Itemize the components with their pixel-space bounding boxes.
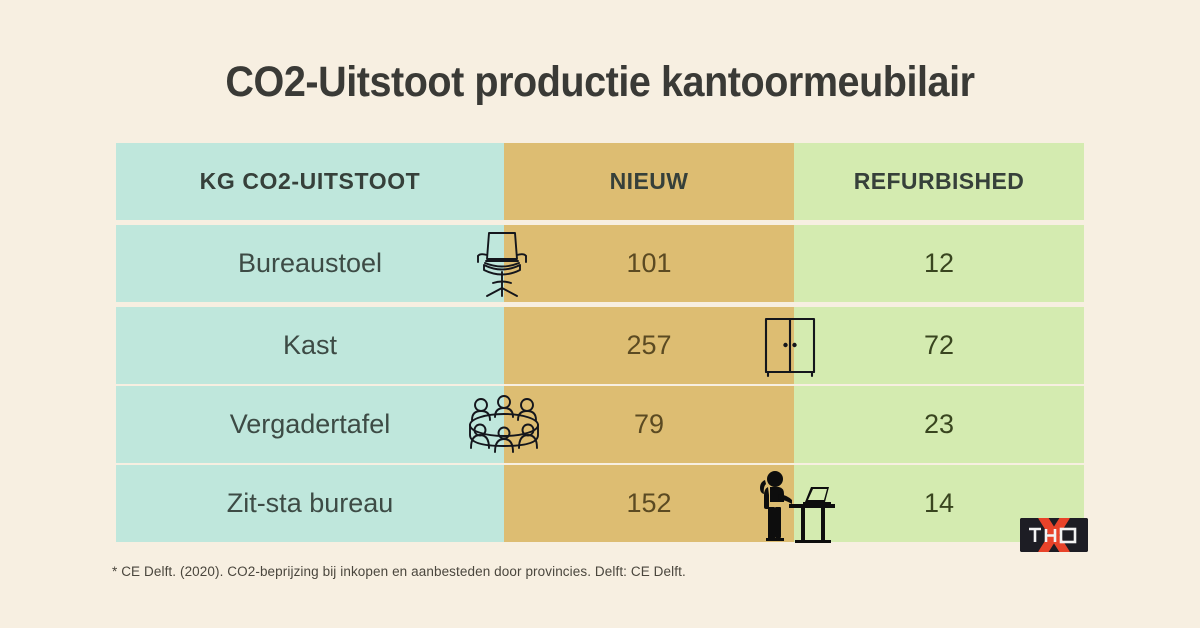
table-row: Vergadertafel 79 23 xyxy=(116,386,1084,463)
row-nieuw-value: 79 xyxy=(634,409,664,440)
row-nieuw-cell: 101 xyxy=(504,225,794,302)
row-label-text: Kast xyxy=(283,330,337,361)
row-label-cell: Kast xyxy=(116,307,504,384)
row-label-cell: Vergadertafel xyxy=(116,386,504,463)
row-nieuw-cell: 152 xyxy=(504,465,794,542)
column-header-label: KG CO2-UITSTOOT xyxy=(116,143,504,220)
column-header-nieuw: NIEUW xyxy=(504,143,794,220)
row-nieuw-value: 101 xyxy=(626,248,671,279)
row-refurbished-cell: 23 xyxy=(794,386,1084,463)
row-label-cell: Zit-sta bureau xyxy=(116,465,504,542)
source-footnote: * CE Delft. (2020). CO2-beprijzing bij i… xyxy=(112,564,686,579)
row-nieuw-value: 152 xyxy=(626,488,671,519)
column-header-label-text: KG CO2-UITSTOOT xyxy=(200,168,421,195)
row-label-text: Vergadertafel xyxy=(230,409,391,440)
row-nieuw-value: 257 xyxy=(626,330,671,361)
table-row: Kast 257 72 xyxy=(116,307,1084,384)
infographic-canvas: CO2-Uitstoot productie kantoormeubilair … xyxy=(0,0,1200,628)
row-refurbished-value: 72 xyxy=(924,330,954,361)
row-nieuw-cell: 257 xyxy=(504,307,794,384)
row-refurbished-cell: 12 xyxy=(794,225,1084,302)
table-header-row: KG CO2-UITSTOOT NIEUW REFURBISHED xyxy=(116,143,1084,220)
co2-comparison-table: KG CO2-UITSTOOT NIEUW REFURBISHED Bureau… xyxy=(116,143,1084,540)
column-header-nieuw-text: NIEUW xyxy=(610,168,689,195)
column-header-refurbished: REFURBISHED xyxy=(794,143,1084,220)
row-refurbished-value: 23 xyxy=(924,409,954,440)
row-refurbished-cell: 72 xyxy=(794,307,1084,384)
row-label-text: Zit-sta bureau xyxy=(227,488,394,519)
row-nieuw-cell: 79 xyxy=(504,386,794,463)
row-label-cell: Bureaustoel xyxy=(116,225,504,302)
column-header-refurbished-text: REFURBISHED xyxy=(854,168,1025,195)
row-refurbished-value: 12 xyxy=(924,248,954,279)
tho-logo xyxy=(1020,518,1088,552)
page-title: CO2-Uitstoot productie kantoormeubilair xyxy=(48,58,1152,107)
table-row: Zit-sta bureau 152 14 xyxy=(116,465,1084,542)
row-label-text: Bureaustoel xyxy=(238,248,382,279)
row-refurbished-value: 14 xyxy=(924,488,954,519)
table-row: Bureaustoel 101 12 xyxy=(116,225,1084,302)
